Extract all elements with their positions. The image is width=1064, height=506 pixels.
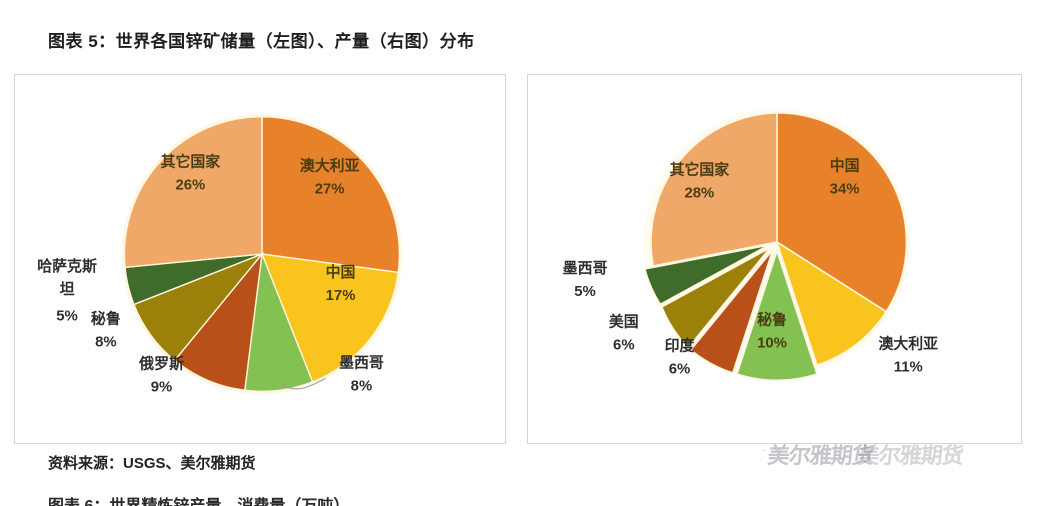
label-other-pct: 26% xyxy=(175,177,205,193)
label-russia-name: 俄罗斯 xyxy=(138,354,184,372)
label-china-pct: 17% xyxy=(326,288,356,304)
label-russia-pct: 9% xyxy=(151,379,173,395)
label-australia-pct: 11% xyxy=(894,359,923,375)
page-title: 图表 5：世界各国锌矿储量（左图）、产量（右图）分布 xyxy=(48,27,475,52)
label-kazakhstan-name-line1: 哈萨克斯 xyxy=(37,257,97,275)
label-kazakhstan-name-line2: 坦 xyxy=(60,281,75,298)
label-india-name: 印度 xyxy=(665,337,695,355)
label-china-name: 中国 xyxy=(326,263,356,281)
label-mexico-name: 墨西哥 xyxy=(339,354,384,371)
watermark-dots: · · xyxy=(762,442,780,457)
label-peru-name: 秘鲁 xyxy=(91,310,121,328)
source-note: 资料来源：USGS、美尔雅期货 xyxy=(48,452,256,473)
label-australia-name: 澳大利亚 xyxy=(878,335,938,353)
label-china-pct: 34% xyxy=(830,181,860,197)
production-pie-chart: 中国 34% 其它国家 28% 秘鲁 10% 墨西哥 5% 美国 6% 印度 6… xyxy=(528,75,1021,443)
label-usa-pct: 6% xyxy=(613,338,635,354)
label-peru-pct: 8% xyxy=(95,335,117,351)
label-mexico-pct: 8% xyxy=(351,378,373,394)
label-china-name: 中国 xyxy=(830,156,860,174)
label-other-pct: 28% xyxy=(684,185,714,201)
label-peru-name: 秘鲁 xyxy=(757,311,787,329)
right-chart-panel: 中国 34% 其它国家 28% 秘鲁 10% 墨西哥 5% 美国 6% 印度 6… xyxy=(527,74,1022,444)
label-usa-name: 美国 xyxy=(609,313,639,331)
reserves-pie-chart: 澳大利亚 27% 中国 17% 其它国家 26% 哈萨克斯 坦 5% 秘鲁 8%… xyxy=(15,75,505,443)
next-figure-caption-clipped: 图表 6：世界精炼锌产量、消费量（万吨） xyxy=(48,492,349,506)
label-india-pct: 6% xyxy=(669,361,691,377)
label-peru-pct: 10% xyxy=(757,336,787,352)
left-chart-panel: 澳大利亚 27% 中国 17% 其它国家 26% 哈萨克斯 坦 5% 秘鲁 8%… xyxy=(14,74,506,444)
label-australia-name: 澳大利亚 xyxy=(300,156,360,174)
reserves-pie-svg: 澳大利亚 27% 中国 17% 其它国家 26% 哈萨克斯 坦 5% 秘鲁 8%… xyxy=(15,75,505,443)
label-other-name: 其它国家 xyxy=(161,153,221,171)
label-mexico-pct: 5% xyxy=(574,284,596,300)
production-pie-svg: 中国 34% 其它国家 28% 秘鲁 10% 墨西哥 5% 美国 6% 印度 6… xyxy=(528,75,1021,443)
label-mexico-name: 墨西哥 xyxy=(563,260,608,277)
label-australia-pct: 27% xyxy=(315,181,345,197)
label-other-name: 其它国家 xyxy=(670,160,730,178)
label-kazakhstan-pct: 5% xyxy=(56,309,78,325)
